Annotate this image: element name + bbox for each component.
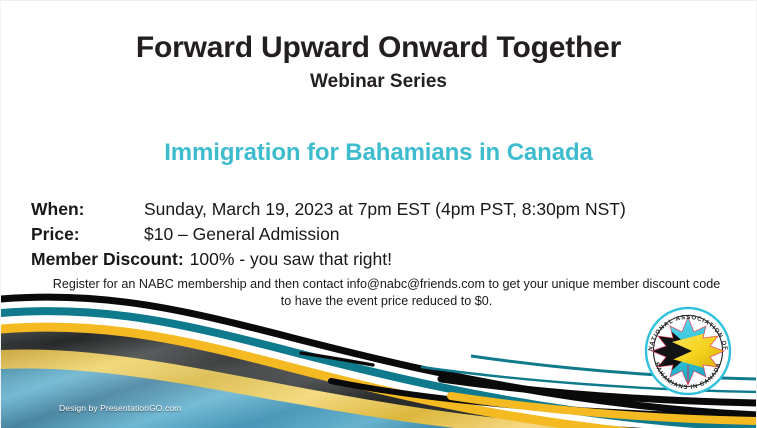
nabc-logo: NATIONAL ASSOCIATION OF BAHAMIANS IN CAN… — [638, 307, 738, 395]
webinar-topic-heading: Immigration for Bahamians in Canada — [1, 139, 756, 167]
detail-value-when: Sunday, March 19, 2023 at 7pm EST (4pm P… — [144, 199, 626, 219]
event-details: When:Sunday, March 19, 2023 at 7pm EST (… — [31, 197, 731, 273]
detail-row-when: When:Sunday, March 19, 2023 at 7pm EST (… — [31, 197, 731, 222]
registration-note-line1: Register for an NABC membership and then… — [53, 277, 639, 291]
page-title: Forward Upward Onward Together — [1, 32, 756, 64]
detail-label-price: Price: — [31, 222, 144, 247]
detail-row-price: Price:$10 – General Admission — [31, 222, 731, 247]
detail-row-member-discount: Member Discount:100% - you saw that righ… — [31, 247, 731, 272]
detail-label-member-discount: Member Discount: — [31, 247, 184, 272]
presentation-slide: Forward Upward Onward Together Webinar S… — [0, 0, 757, 428]
detail-value-member-discount: 100% - you saw that right! — [190, 249, 392, 269]
detail-value-price: $10 – General Admission — [144, 224, 340, 244]
detail-label-when: When: — [31, 197, 144, 222]
page-subtitle: Webinar Series — [1, 71, 756, 93]
design-credit: Design by PresentationGO.com — [59, 403, 181, 413]
